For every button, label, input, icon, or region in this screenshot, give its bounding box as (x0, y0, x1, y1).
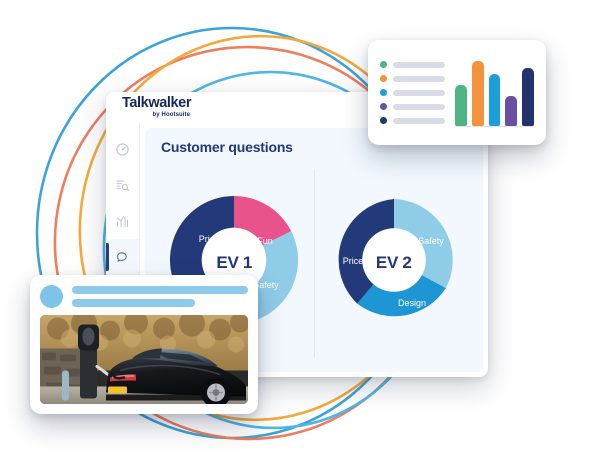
bar-4[interactable] (505, 96, 517, 126)
bar-chart-plot (455, 58, 534, 127)
legend-label-placeholder (393, 118, 445, 124)
sidebar-item-conversations[interactable] (106, 239, 139, 275)
legend-label-placeholder (393, 76, 445, 82)
screenshot-root: Talkwalker by Hootsuite (0, 0, 608, 466)
donut-ev1-label-fun: Fun (257, 236, 273, 246)
donut-chart-ev2[interactable]: Safety Design Price EV 2 (328, 194, 460, 331)
donut-ev2-hole (362, 228, 426, 292)
donut-ev2-label-design: Design (398, 298, 426, 308)
post-line-1 (72, 286, 248, 294)
chat-bubble-icon (115, 250, 130, 265)
brand-name: Talkwalker (122, 96, 191, 111)
bar-chart-icon (115, 214, 130, 229)
gauge-icon (115, 142, 130, 157)
sidebar-item-dashboard[interactable] (106, 131, 139, 167)
post-photo (40, 315, 248, 404)
legend-item[interactable] (380, 61, 445, 68)
bar-2[interactable] (472, 61, 484, 126)
sidebar-item-analytics[interactable] (106, 203, 139, 239)
bar-1[interactable] (455, 85, 467, 126)
social-post-card[interactable] (30, 275, 258, 414)
legend-item[interactable] (380, 75, 445, 82)
brand-tagline: by Hootsuite (122, 112, 191, 118)
legend-label-placeholder (393, 104, 445, 110)
donut-ev2-label-safety: Safety (418, 236, 444, 246)
search-list-icon (115, 178, 130, 193)
donut-ev2-label-price: Price (342, 256, 363, 266)
post-line-2 (72, 299, 195, 307)
legend-label-placeholder (393, 62, 445, 68)
ev-charging-photo (40, 315, 248, 404)
donut-ev1-label-price: Price (199, 234, 220, 244)
legend-label-placeholder (393, 90, 445, 96)
legend-item[interactable] (380, 103, 445, 110)
chart-cell-ev2: Safety Design Price EV 2 (315, 157, 474, 368)
legend-dot-icon (380, 89, 387, 96)
bar-5[interactable] (522, 68, 534, 126)
legend-dot-icon (380, 103, 387, 110)
brand-logo[interactable]: Talkwalker by Hootsuite (122, 96, 191, 118)
legend-dot-icon (380, 75, 387, 82)
sidebar-item-search[interactable] (106, 167, 139, 203)
bar-3[interactable] (489, 74, 501, 126)
bar-chart-card[interactable] (368, 40, 546, 145)
legend-dot-icon (380, 61, 387, 68)
legend-item[interactable] (380, 89, 445, 96)
post-text-placeholder (72, 286, 248, 307)
avatar (40, 285, 63, 308)
legend-item[interactable] (380, 117, 445, 124)
donut-ev2-svg: Safety Design Price (328, 194, 460, 326)
legend-dot-icon (380, 117, 387, 124)
post-header (40, 285, 248, 308)
bar-chart-legend (380, 61, 445, 124)
